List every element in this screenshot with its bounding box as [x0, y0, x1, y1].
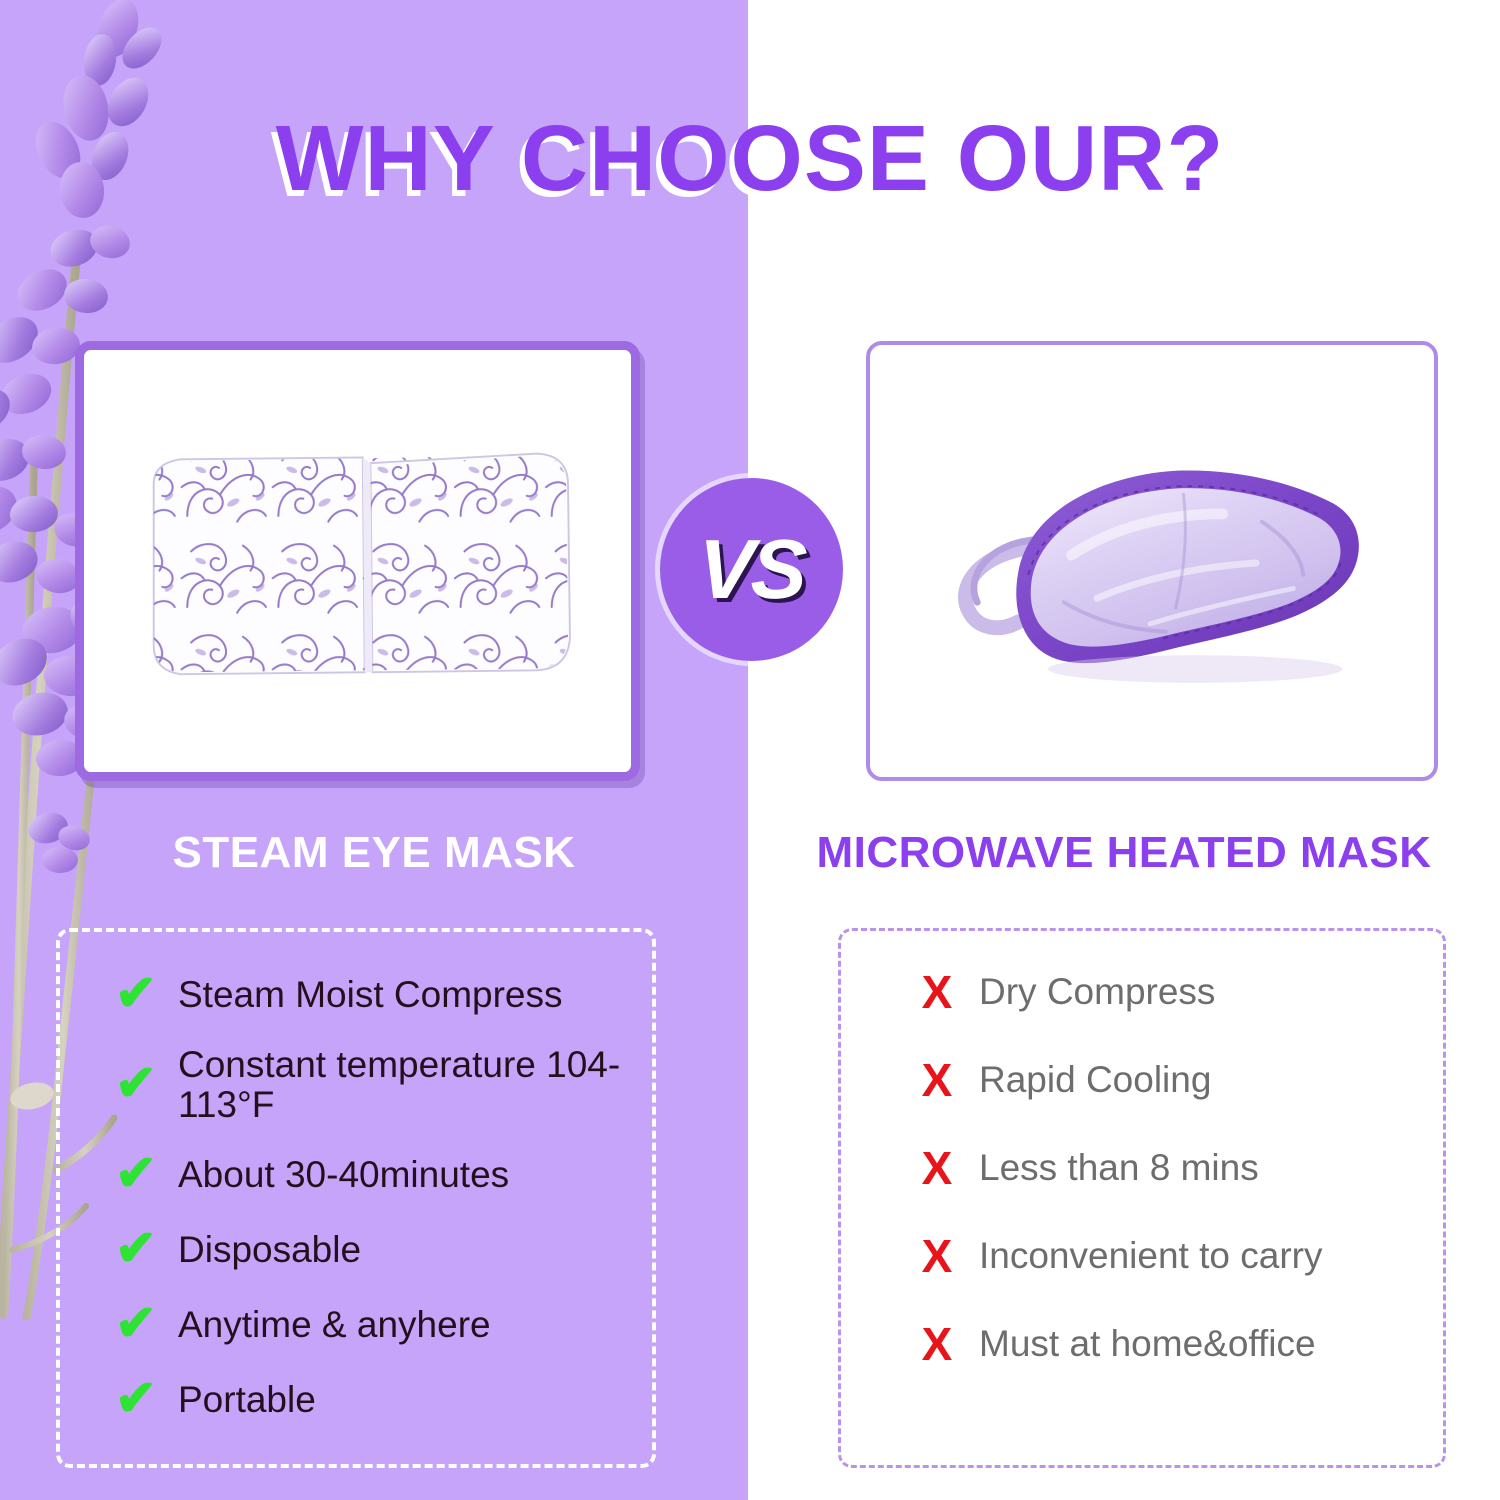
feature-label: Must at home&office	[979, 1324, 1316, 1364]
check-icon: ✔	[114, 1373, 158, 1423]
check-icon: ✔	[114, 1223, 158, 1273]
feature-label: Rapid Cooling	[979, 1060, 1211, 1100]
check-icon: ✔	[114, 1148, 158, 1198]
feature-label: Less than 8 mins	[979, 1148, 1259, 1188]
vs-label: VS	[697, 521, 806, 618]
infographic-canvas: WHY CHOOSE OUR?	[0, 0, 1500, 1500]
right-column-heading: MICROWAVE HEATED MASK	[748, 828, 1500, 878]
left-column-heading: STEAM EYE MASK	[0, 828, 748, 878]
feature-label: Disposable	[178, 1230, 361, 1270]
microwave-heated-mask-image	[870, 345, 1434, 777]
list-item: ✔ Disposable	[86, 1225, 626, 1275]
right-product-image-card	[866, 341, 1438, 781]
list-item: ✔ Anytime & anyhere	[86, 1300, 626, 1350]
cross-icon: X	[915, 1321, 959, 1367]
check-icon: ✔	[114, 1058, 158, 1108]
list-item: X Rapid Cooling	[867, 1057, 1417, 1103]
list-item: X Must at home&office	[867, 1321, 1417, 1367]
list-item: ✔ Steam Moist Compress	[86, 970, 626, 1020]
list-item: X Less than 8 mins	[867, 1145, 1417, 1191]
feature-label: Steam Moist Compress	[178, 975, 563, 1015]
list-item: X Inconvenient to carry	[867, 1233, 1417, 1279]
left-feature-box: ✔ Steam Moist Compress ✔ Constant temper…	[56, 928, 656, 1468]
feature-label: Dry Compress	[979, 972, 1215, 1012]
cross-icon: X	[915, 969, 959, 1015]
left-feature-list: ✔ Steam Moist Compress ✔ Constant temper…	[86, 970, 626, 1425]
list-item: ✔ Portable	[86, 1375, 626, 1425]
steam-eye-mask-image	[84, 350, 631, 772]
right-feature-box: X Dry Compress X Rapid Cooling X Less th…	[838, 928, 1446, 1468]
cross-icon: X	[915, 1145, 959, 1191]
check-icon: ✔	[114, 968, 158, 1018]
list-item: ✔ About 30-40minutes	[86, 1150, 626, 1200]
cross-icon: X	[915, 1233, 959, 1279]
page-title: WHY CHOOSE OUR?	[0, 105, 1500, 212]
feature-label: Inconvenient to carry	[979, 1236, 1322, 1276]
list-item: ✔ Constant temperature 104-113°F	[86, 1045, 626, 1125]
feature-label: Constant temperature 104-113°F	[178, 1045, 626, 1125]
check-icon: ✔	[114, 1298, 158, 1348]
feature-label: Anytime & anyhere	[178, 1305, 491, 1345]
left-product-image-card	[75, 341, 640, 781]
right-feature-list: X Dry Compress X Rapid Cooling X Less th…	[867, 969, 1417, 1367]
vs-badge: VS	[660, 478, 843, 661]
list-item: X Dry Compress	[867, 969, 1417, 1015]
feature-label: Portable	[178, 1380, 316, 1420]
feature-label: About 30-40minutes	[178, 1155, 509, 1195]
cross-icon: X	[915, 1057, 959, 1103]
